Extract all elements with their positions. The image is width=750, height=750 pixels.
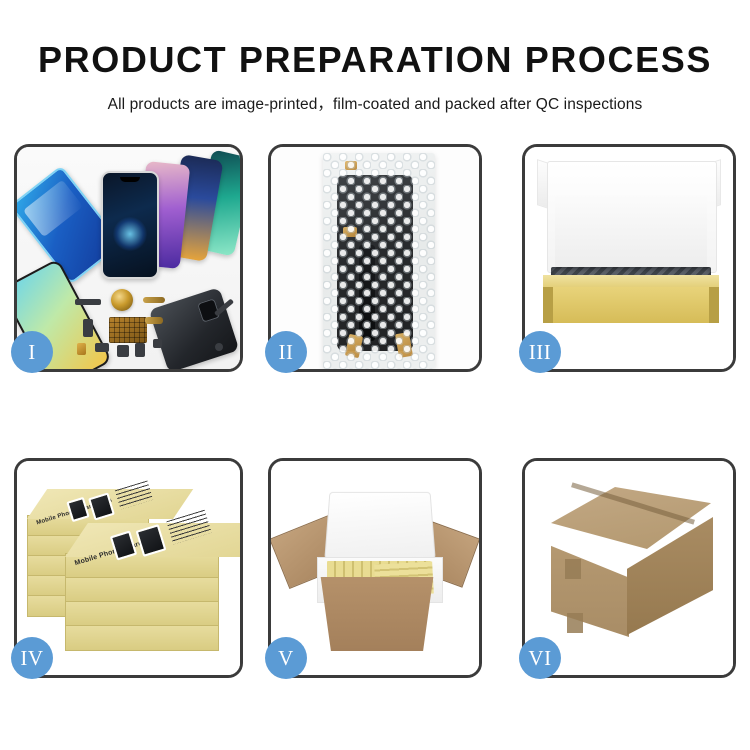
sim-tray-part: [77, 343, 86, 355]
speaker-coil-part: [111, 289, 133, 311]
bubble-texture: [323, 153, 435, 369]
step-6-image: [525, 461, 733, 675]
carton-tape-patch-bottom: [567, 613, 583, 633]
carton-front-wall: [313, 577, 441, 651]
box-corner-right: [709, 287, 719, 323]
box-corner-left: [543, 287, 553, 323]
process-step-3[interactable]: III: [522, 144, 736, 372]
small-part-2: [117, 345, 129, 357]
step-badge-3: III: [519, 331, 561, 373]
carton-tape-patch-top: [565, 559, 581, 579]
stacked-box-front-4: [65, 625, 219, 651]
step-badge-2: II: [265, 331, 307, 373]
small-part-1: [95, 343, 109, 352]
step-badge-5: V: [265, 637, 307, 679]
foam-insert: [555, 195, 707, 269]
logic-board-part: [109, 317, 147, 343]
process-step-4[interactable]: Mobile Phone Spare Parts Mobile Phone Sp…: [14, 458, 243, 678]
small-part-4: [153, 339, 162, 348]
flex-cable-part-2: [145, 317, 163, 324]
step-3-image: [525, 147, 733, 369]
screw-part: [215, 343, 223, 351]
camera-module-part: [83, 319, 93, 337]
process-step-6[interactable]: VI: [522, 458, 736, 678]
step-5-image: [271, 461, 479, 675]
process-step-grid: I II: [0, 0, 750, 750]
step-2-image: [271, 147, 479, 369]
step-badge-6: VI: [519, 637, 561, 679]
step-4-image: Mobile Phone Spare Parts Mobile Phone Sp…: [17, 461, 240, 675]
bubble-wrap-bag: [323, 153, 435, 369]
small-part-3: [135, 343, 145, 357]
flex-cable-part-1: [143, 297, 165, 303]
connector-part-1: [75, 299, 101, 305]
box-yellow-front: [543, 287, 719, 323]
step-badge-1: I: [11, 331, 53, 373]
process-step-5[interactable]: V: [268, 458, 482, 678]
step-badge-4: IV: [11, 637, 53, 679]
process-step-2[interactable]: II: [268, 144, 482, 372]
foam-lid-open: [324, 492, 435, 559]
phone-front-glass: [101, 171, 159, 279]
process-step-1[interactable]: I: [14, 144, 243, 372]
stacked-box-front-3: [65, 601, 219, 627]
step-1-image: [17, 147, 240, 369]
stacked-box-front-2: [65, 577, 219, 603]
